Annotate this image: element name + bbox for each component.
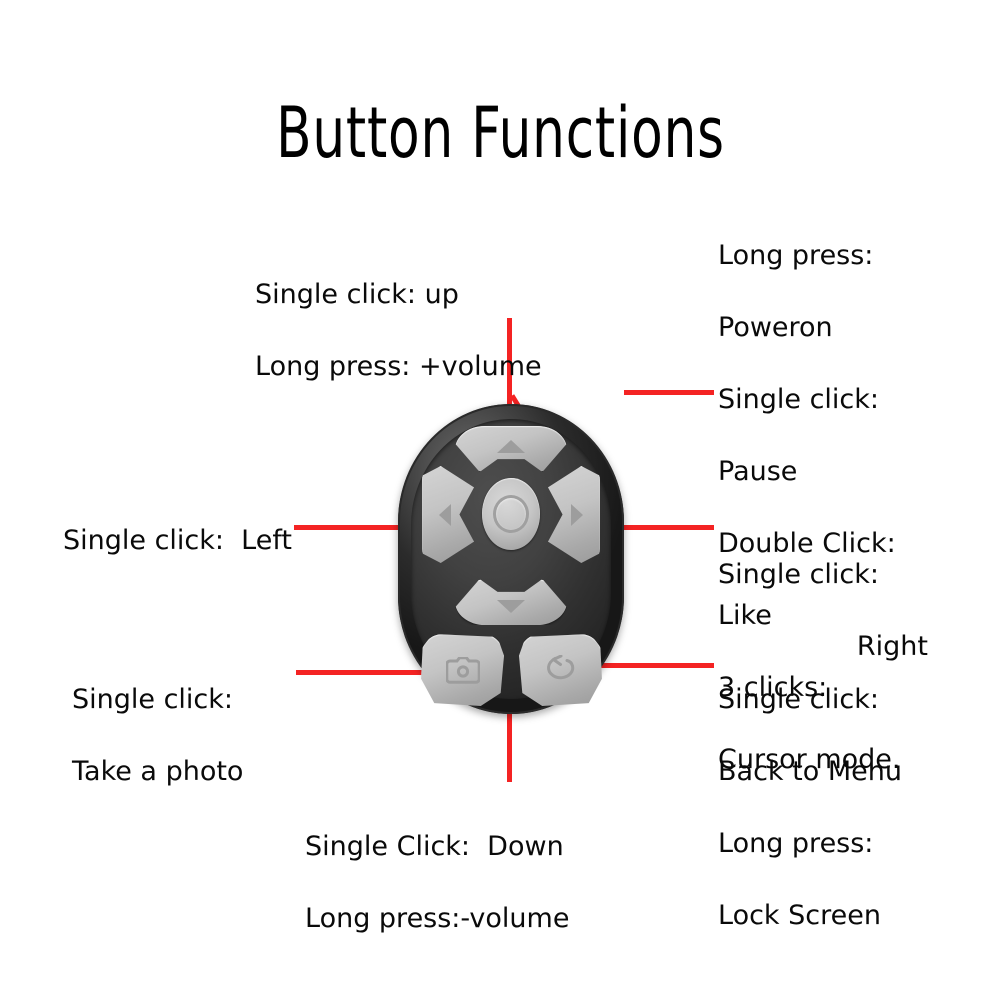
callout-photo-line-1: Single click: bbox=[72, 682, 243, 718]
callout-back-line-4: Lock Screen bbox=[718, 898, 902, 934]
callout-back-line-2: Back to Menu bbox=[718, 754, 902, 790]
triangle-up-icon bbox=[497, 440, 525, 453]
callout-down-line-2: Long press:-volume bbox=[305, 901, 569, 937]
callout-center-line-3: Single click: bbox=[718, 382, 901, 418]
back-arrow-icon bbox=[545, 655, 577, 685]
callout-label-back: Single click: Back to Menu Long press: L… bbox=[718, 646, 902, 970]
page-title: Button Functions bbox=[90, 92, 911, 174]
callout-label-down: Single Click: Down Long press:-volume bbox=[305, 793, 569, 973]
callout-left-line-1: Single click: Left bbox=[63, 523, 292, 559]
camera-icon bbox=[446, 657, 480, 684]
remote-control-device bbox=[398, 404, 624, 714]
circle-ring-icon bbox=[493, 495, 529, 533]
photo-button[interactable] bbox=[421, 634, 504, 706]
callout-photo-line-2: Take a photo bbox=[72, 754, 243, 790]
triangle-right-icon bbox=[571, 504, 583, 526]
callout-center-line-1: Long press: bbox=[718, 238, 901, 274]
callout-up-line-1: Single click: up bbox=[255, 277, 542, 313]
triangle-left-icon bbox=[439, 504, 451, 526]
callout-right-line-1: Single click: bbox=[718, 557, 928, 593]
callout-label-left: Single click: Left bbox=[63, 487, 292, 595]
callout-down-line-1: Single Click: Down bbox=[305, 829, 569, 865]
callout-up-line-2: Long press: +volume bbox=[255, 349, 542, 385]
callout-back-line-1: Single click: bbox=[718, 682, 902, 718]
callout-center-line-4: Pause bbox=[718, 454, 901, 490]
callout-line-center-horizontal bbox=[624, 390, 714, 395]
center-button[interactable] bbox=[482, 478, 540, 550]
callout-label-photo: Single click: Take a photo bbox=[72, 646, 243, 826]
back-button[interactable] bbox=[519, 634, 602, 706]
button-functions-diagram: Button Functions bbox=[0, 0, 1001, 1001]
triangle-down-icon bbox=[497, 600, 525, 613]
callout-label-up: Single click: up Long press: +volume bbox=[255, 241, 542, 421]
callout-back-line-3: Long press: bbox=[718, 826, 902, 862]
callout-center-line-2: Poweron bbox=[718, 310, 901, 346]
